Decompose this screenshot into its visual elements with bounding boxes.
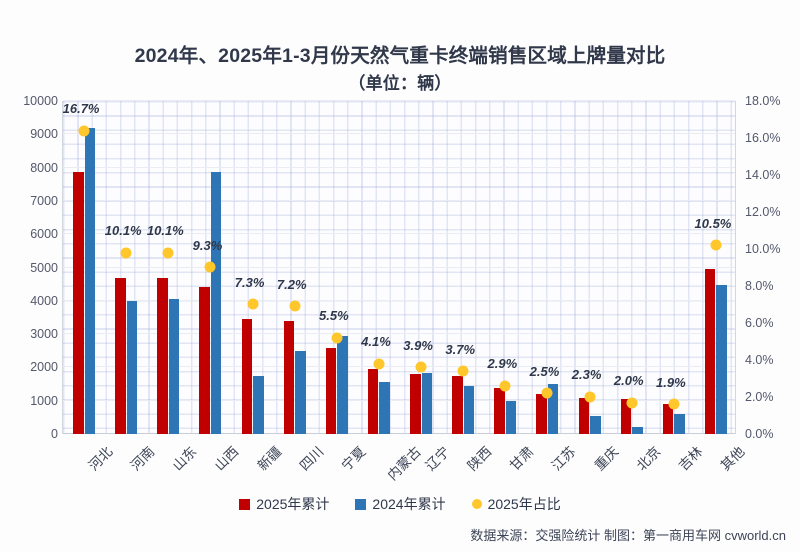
- y-axis-right-tick: 12.0%: [745, 205, 780, 219]
- bar-2024: [590, 416, 601, 434]
- square-red-icon: [239, 499, 250, 510]
- bar-2025: [115, 278, 126, 435]
- bar-2025: [368, 369, 379, 434]
- chart-legend: 2025年累计2024年累计2025年占比: [0, 494, 800, 514]
- x-axis-label: 北京: [631, 441, 664, 474]
- bar-2025: [242, 319, 253, 434]
- bar-2024: [632, 427, 643, 434]
- bar-group: 2.5%: [526, 101, 568, 434]
- chart-subtitle: （单位：辆）: [0, 70, 800, 98]
- share-point: [247, 299, 258, 310]
- share-point: [710, 240, 721, 251]
- share-label: 7.3%: [235, 275, 265, 290]
- share-point: [205, 262, 216, 273]
- y-axis-right-tick: 10.0%: [745, 242, 780, 256]
- share-point: [584, 391, 595, 402]
- x-axis-label: 江苏: [546, 441, 579, 474]
- bar-2024: [674, 414, 685, 434]
- bar-2024: [211, 172, 222, 434]
- share-label: 2.9%: [487, 356, 517, 371]
- bar-2025: [536, 394, 547, 434]
- bar-group: 3.7%: [442, 101, 484, 434]
- bar-2024: [127, 301, 138, 434]
- bar-group: 10.5%: [695, 101, 737, 434]
- share-label: 10.5%: [695, 216, 732, 231]
- x-axis-label: 辽宁: [420, 441, 453, 474]
- bar-2024: [379, 382, 390, 434]
- share-label: 16.7%: [63, 101, 100, 116]
- bar-group: 1.9%: [653, 101, 695, 434]
- bar-2024: [506, 401, 517, 434]
- legend-label: 2025年占比: [488, 494, 561, 514]
- legend-item[interactable]: 2024年累计: [355, 494, 445, 514]
- share-label: 9.3%: [193, 238, 223, 253]
- chart-footer: 数据来源：交强险统计 制图：第一商用车网 cvworld.cn: [470, 525, 786, 544]
- share-point: [458, 366, 469, 377]
- bar-2025: [410, 374, 421, 434]
- share-label: 2.0%: [614, 373, 644, 388]
- share-label: 7.2%: [277, 277, 307, 292]
- bar-2025: [326, 348, 337, 434]
- x-axis-label: 河南: [125, 441, 158, 474]
- legend-item[interactable]: 2025年累计: [239, 494, 329, 514]
- bar-2024: [422, 373, 433, 434]
- plot-area: 16.7%10.1%10.1%9.3%7.3%7.2%5.5%4.1%3.9%3…: [62, 101, 736, 434]
- x-axis-label: 其他: [715, 441, 748, 474]
- y-axis-right-tick: 8.0%: [745, 279, 774, 293]
- y-axis-left-tick: 9000: [30, 127, 58, 141]
- x-axis-label: 新疆: [251, 441, 284, 474]
- y-axis-left-tick: 10000: [23, 94, 58, 108]
- y-axis-left-tick: 0: [51, 427, 58, 441]
- bar-group: 4.1%: [358, 101, 400, 434]
- share-point: [542, 388, 553, 399]
- circle-yellow-icon: [472, 499, 482, 509]
- page-title: 2024年、2025年1-3月份天然气重卡终端销售区域上牌量对比: [0, 42, 800, 70]
- bar-group: 7.3%: [232, 101, 274, 434]
- bar-2025: [705, 269, 716, 434]
- bar-group: 7.2%: [274, 101, 316, 434]
- bar-2024: [169, 299, 180, 434]
- chart-container: 2024年、2025年1-3月份天然气重卡终端销售区域上牌量对比 （单位：辆） …: [0, 0, 800, 552]
- bar-2025: [579, 398, 590, 434]
- y-axis-left-tick: 8000: [30, 161, 58, 175]
- x-axis-label: 内蒙古: [382, 441, 425, 484]
- bar-group: 10.1%: [105, 101, 147, 434]
- chart-title-block: 2024年、2025年1-3月份天然气重卡终端销售区域上牌量对比 （单位：辆）: [0, 42, 800, 98]
- x-axis-label: 重庆: [588, 441, 621, 474]
- bar-group: 16.7%: [63, 101, 105, 434]
- y-axis-left-tick: 5000: [30, 261, 58, 275]
- share-point: [289, 301, 300, 312]
- x-axis-label: 山东: [167, 441, 200, 474]
- share-label: 2.5%: [530, 364, 560, 379]
- y-axis-right-tick: 16.0%: [745, 131, 780, 145]
- y-axis-left-tick: 2000: [30, 360, 58, 374]
- share-label: 1.9%: [656, 375, 686, 390]
- bar-2025: [199, 287, 210, 434]
- bar-group: 2.3%: [569, 101, 611, 434]
- share-label: 3.9%: [403, 338, 433, 353]
- share-point: [163, 247, 174, 258]
- bar-2024: [253, 376, 264, 434]
- x-axis-label: 甘肃: [504, 441, 537, 474]
- x-axis-label: 河北: [83, 441, 116, 474]
- share-label: 10.1%: [147, 223, 184, 238]
- y-axis-left-tick: 7000: [30, 194, 58, 208]
- bar-group: 2.9%: [484, 101, 526, 434]
- x-axis-label: 山西: [209, 441, 242, 474]
- bar-2024: [337, 336, 348, 434]
- bar-2025: [494, 388, 505, 434]
- share-label: 5.5%: [319, 308, 349, 323]
- x-axis-label: 陕西: [462, 441, 495, 474]
- bar-group: 9.3%: [189, 101, 231, 434]
- bar-group: 3.9%: [400, 101, 442, 434]
- bar-group: 5.5%: [316, 101, 358, 434]
- share-point: [668, 399, 679, 410]
- square-blue-icon: [355, 499, 366, 510]
- share-point: [500, 380, 511, 391]
- legend-label: 2025年累计: [256, 494, 329, 514]
- share-point: [626, 397, 637, 408]
- share-point: [331, 332, 342, 343]
- bar-2025: [452, 376, 463, 434]
- y-axis-left-tick: 4000: [30, 294, 58, 308]
- bar-2024: [85, 128, 96, 434]
- y-axis-left-tick: 3000: [30, 327, 58, 341]
- bar-2025: [73, 172, 84, 434]
- y-axis-right-tick: 2.0%: [745, 390, 774, 404]
- share-point: [416, 362, 427, 373]
- y-axis-right-tick: 4.0%: [745, 353, 774, 367]
- bar-2024: [716, 285, 727, 434]
- y-axis-right-tick: 6.0%: [745, 316, 774, 330]
- bar-2025: [284, 321, 295, 434]
- y-axis-right-tick: 18.0%: [745, 94, 780, 108]
- bar-2025: [157, 278, 168, 435]
- y-axis-right-tick: 0.0%: [745, 427, 774, 441]
- bar-group: 2.0%: [611, 101, 653, 434]
- x-axis-label: 四川: [294, 441, 327, 474]
- bar-2024: [295, 351, 306, 434]
- share-label: 10.1%: [105, 223, 142, 238]
- x-axis-label: 宁夏: [336, 441, 369, 474]
- y-axis-left-tick: 1000: [30, 394, 58, 408]
- share-label: 2.3%: [572, 367, 602, 382]
- share-point: [79, 125, 90, 136]
- share-point: [373, 358, 384, 369]
- x-axis-label: 吉林: [673, 441, 706, 474]
- share-label: 4.1%: [361, 334, 391, 349]
- legend-label: 2024年累计: [372, 494, 445, 514]
- share-label: 3.7%: [445, 342, 475, 357]
- legend-item[interactable]: 2025年占比: [472, 494, 561, 514]
- y-axis-right-tick: 14.0%: [745, 168, 780, 182]
- bar-2024: [464, 386, 475, 434]
- bar-group: 10.1%: [147, 101, 189, 434]
- y-axis-left-tick: 6000: [30, 227, 58, 241]
- share-point: [121, 247, 132, 258]
